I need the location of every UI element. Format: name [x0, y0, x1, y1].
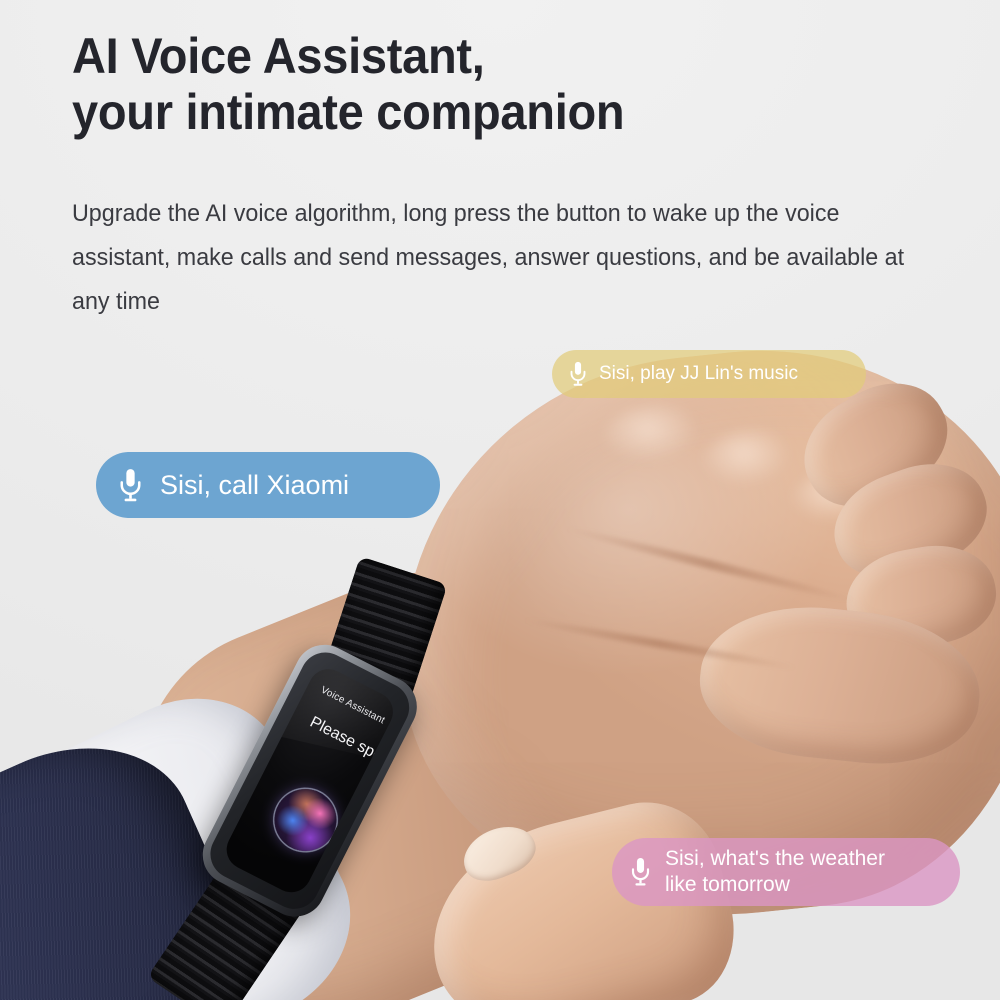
promo-banner: Voice Assistant Please speak AI Voice As…	[0, 0, 1000, 1000]
band-screen[interactable]: Voice Assistant Please speak	[220, 662, 400, 899]
voice-command-bubble-call[interactable]: Sisi, call Xiaomi	[96, 452, 440, 518]
voice-command-text: Sisi, call Xiaomi	[160, 470, 349, 501]
microphone-icon	[117, 468, 144, 503]
voice-command-text: Sisi, what's the weather like tomorrow	[665, 846, 885, 898]
microphone-icon	[629, 857, 652, 887]
voice-command-text: Sisi, play JJ Lin's music	[599, 363, 798, 385]
voice-command-bubble-music[interactable]: Sisi, play JJ Lin's music	[552, 350, 866, 398]
voice-assistant-orb-icon	[264, 778, 347, 861]
page-description: Upgrade the AI voice algorithm, long pre…	[72, 192, 926, 324]
microphone-icon	[568, 361, 588, 387]
voice-command-bubble-weather[interactable]: Sisi, what's the weather like tomorrow	[612, 838, 960, 906]
page-title: AI Voice Assistant, your intimate compan…	[72, 28, 880, 140]
